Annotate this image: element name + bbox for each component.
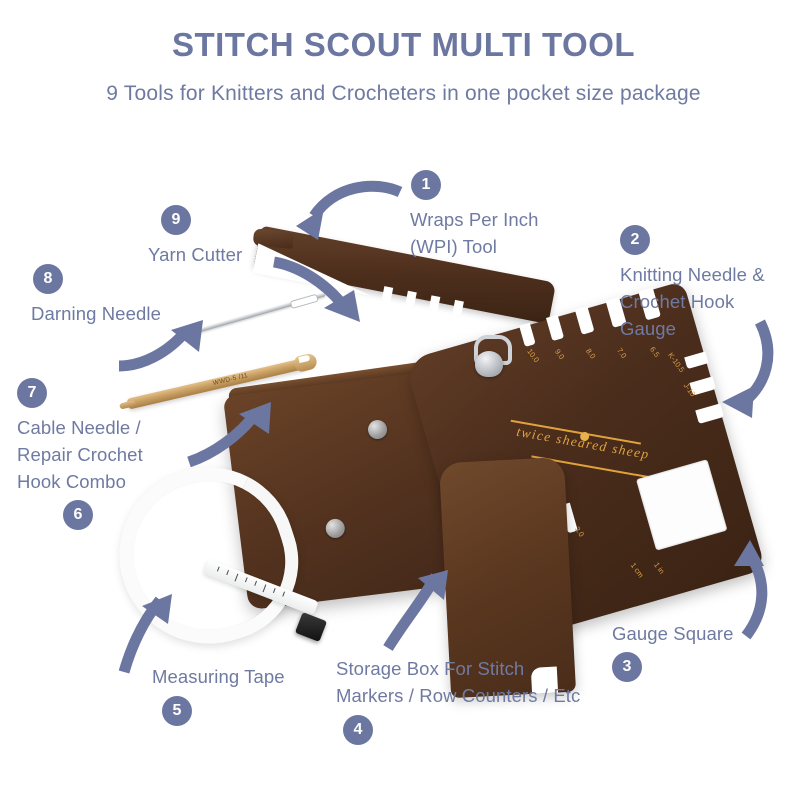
callout-badge-9: 9 [161,205,191,235]
callout-label-2: Knitting Needle & Crochet Hook Gauge [620,261,765,342]
callout-5[interactable]: Measuring Tape 5 [152,663,285,726]
callout-label-4: Storage Box For Stitch Markers / Row Cou… [336,655,580,709]
page-subtitle: 9 Tools for Knitters and Crocheters in o… [0,82,807,106]
callout-3[interactable]: Gauge Square 3 [612,620,734,682]
tape-end-clip [295,612,327,642]
arrow-to-crochet-hook [183,392,293,472]
wpi-notch [429,295,441,311]
callout-badge-5: 5 [162,696,192,726]
callout-8[interactable]: 8 Darning Needle [33,264,161,327]
callout-badge-1: 1 [411,170,441,200]
callout-badge-8: 8 [33,264,63,294]
metal-clasp-icon [470,335,510,381]
callout-label-8: Darning Needle [31,300,161,327]
callout-label-7: Cable Needle / Repair Crochet Hook Combo [17,414,143,495]
callout-6[interactable]: 6 [63,500,93,530]
callout-2[interactable]: 2 Knitting Needle & Crochet Hook Gauge [620,225,765,342]
callout-1[interactable]: 1 Wraps Per Inch (WPI) Tool [411,170,539,260]
wpi-notch [405,291,417,307]
callout-badge-2: 2 [620,225,650,255]
arrow-to-wpi-tool [288,182,408,252]
page-title: STITCH SCOUT MULTI TOOL [0,26,807,64]
arrow-to-storage-box [378,552,468,652]
callout-badge-6: 6 [63,500,93,530]
callout-label-9: Yarn Cutter [148,241,242,268]
wpi-notch [452,300,464,316]
wpi-notch [382,286,394,302]
callout-9[interactable]: 9 Yarn Cutter [148,205,242,268]
callout-7[interactable]: 7 Cable Needle / Repair Crochet Hook Com… [17,378,143,495]
clasp-stud [475,351,503,377]
callout-4[interactable]: Storage Box For Stitch Markers / Row Cou… [336,655,580,745]
callout-badge-3: 3 [612,652,642,682]
callout-badge-4: 4 [343,715,373,745]
callout-label-5: Measuring Tape [152,663,285,690]
callout-label-3: Gauge Square [612,620,734,647]
infographic-canvas: STITCH SCOUT MULTI TOOL 9 Tools for Knit… [0,0,807,808]
callout-label-1: Wraps Per Inch (WPI) Tool [410,206,539,260]
arrow-to-yarn-cutter [270,252,380,332]
callout-badge-7: 7 [17,378,47,408]
